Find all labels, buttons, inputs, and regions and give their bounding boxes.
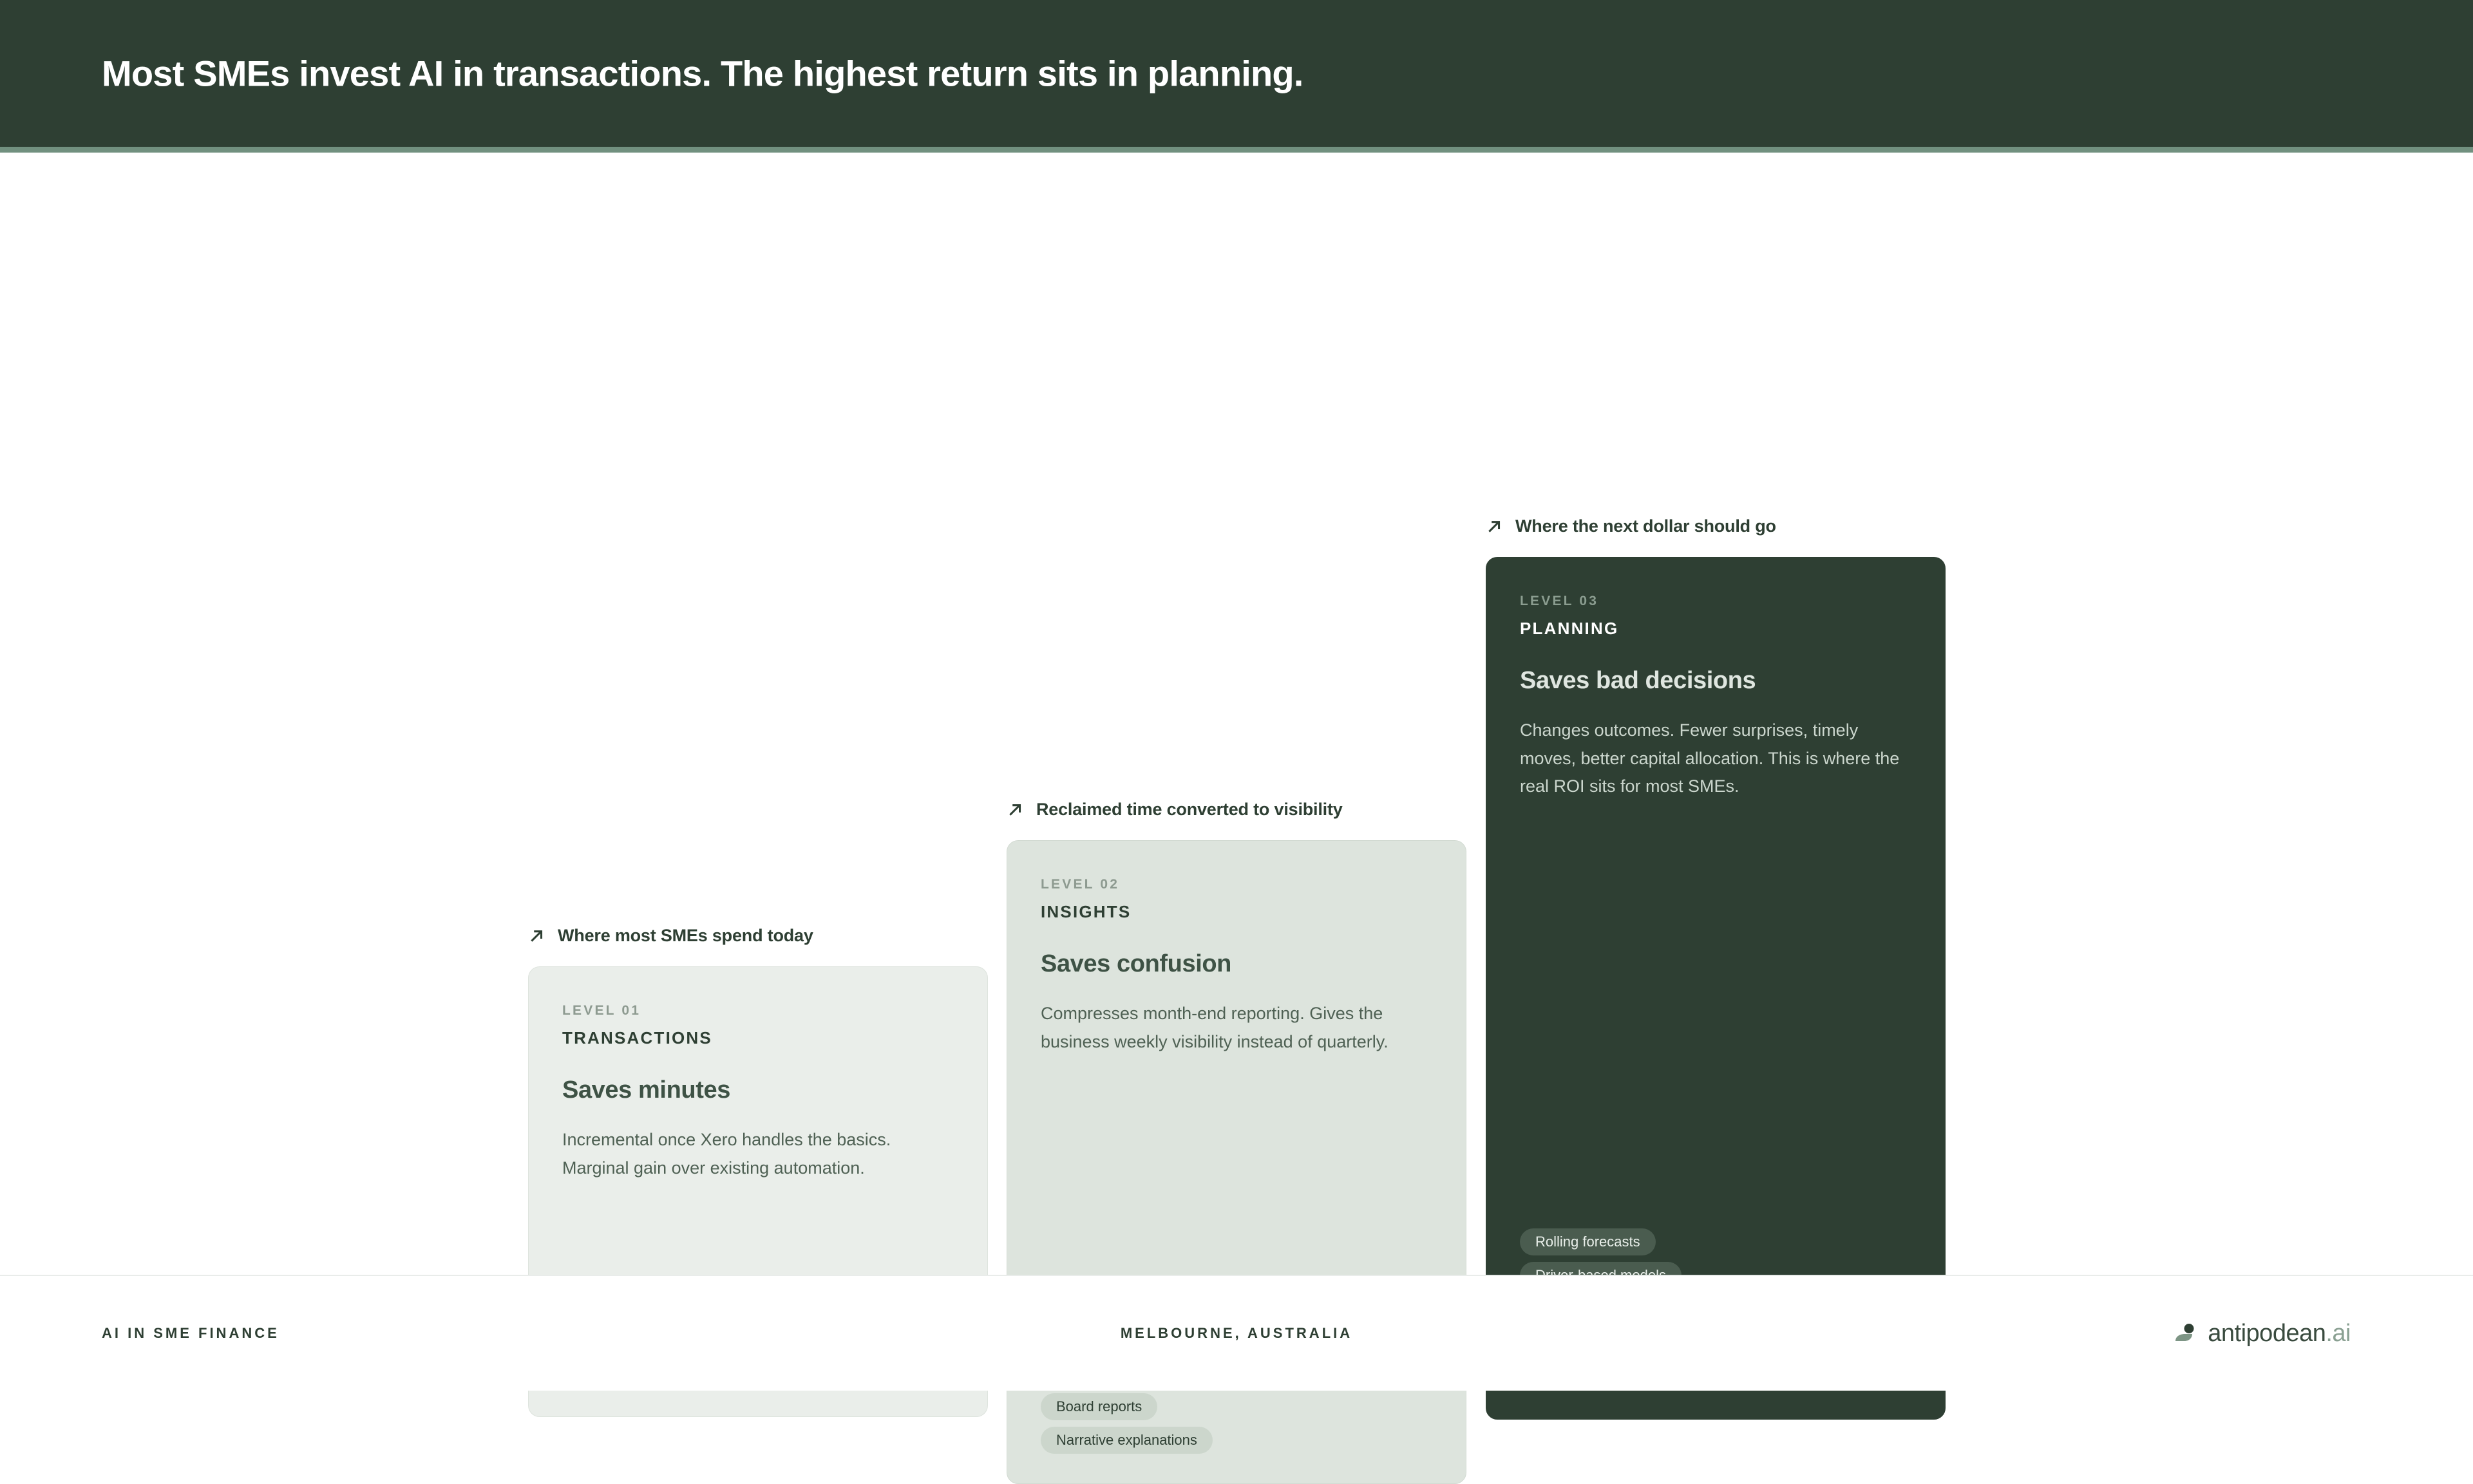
footer-location-label: MELBOURNE, AUSTRALIA [1121,1325,1352,1342]
card-body: Changes outcomes. Fewer surprises, timel… [1520,717,1911,801]
level-label: LEVEL 01 [562,1003,954,1019]
diagram-stage: Where most SMEs spend today LEVEL 01 TRA… [0,153,2473,1275]
page-footer: AI IN SME FINANCE MELBOURNE, AUSTRALIA a… [0,1276,2473,1391]
arrow-up-right-icon [1486,517,1504,535]
card-name: PLANNING [1520,619,1911,639]
card-name: TRANSACTIONS [562,1028,954,1048]
card-name: INSIGHTS [1041,902,1432,922]
caption-text: Reclaimed time converted to visibility [1036,800,1343,820]
arrow-up-right-icon [528,926,546,944]
caption-text: Where most SMEs spend today [558,926,813,946]
arrow-up-right-icon [1007,800,1025,818]
caption-transactions: Where most SMEs spend today [528,923,988,948]
card-headline: Saves confusion [1041,950,1432,978]
tag[interactable]: Board reports [1041,1393,1157,1420]
level-label: LEVEL 02 [1041,877,1432,892]
header-accent-bar [0,147,2473,153]
person-avatar-icon [2173,1320,2199,1346]
page-title: Most SMEs invest AI in transactions. The… [102,53,1303,95]
card-headline: Saves minutes [562,1076,954,1104]
brand-name: antipodean [2208,1320,2326,1347]
tag[interactable]: Rolling forecasts [1520,1228,1656,1255]
caption-text: Where the next dollar should go [1515,516,1776,536]
tag[interactable]: Narrative explanations [1041,1427,1213,1454]
card-body: Compresses month-end reporting. Gives th… [1041,1000,1432,1056]
level-label: LEVEL 03 [1520,594,1911,609]
page-header: Most SMEs invest AI in transactions. The… [0,0,2473,147]
brand-logo[interactable]: antipodean.ai [2173,1320,2351,1346]
caption-planning: Where the next dollar should go [1486,513,1946,539]
card-headline: Saves bad decisions [1520,667,1911,695]
footer-topic-label: AI IN SME FINANCE [102,1325,280,1342]
brand-suffix: .ai [2326,1320,2351,1347]
card-body: Incremental once Xero handles the basics… [562,1126,954,1182]
brand-wordmark: antipodean.ai [2208,1321,2351,1346]
caption-insights: Reclaimed time converted to visibility [1007,796,1466,822]
